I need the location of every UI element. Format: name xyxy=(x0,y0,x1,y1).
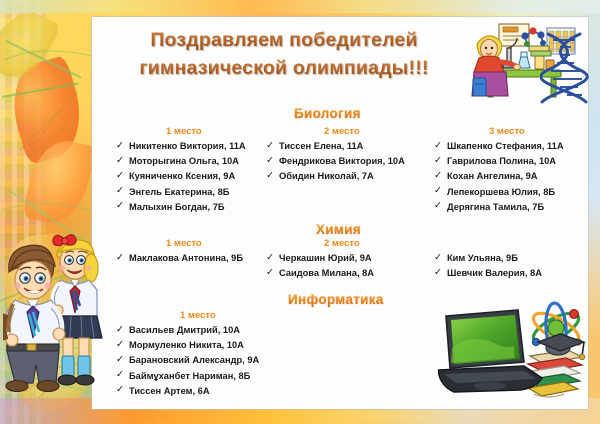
check-icon: ✓ xyxy=(434,252,442,265)
winner-name: Барановский Александр, 9А xyxy=(129,355,259,365)
list-item: ✓Обидин Николай, 7А xyxy=(266,170,405,183)
winner-name: Лепекоршева Юлия, 8Б xyxy=(447,187,555,197)
list-item: ✓Васильев Дмитрий, 10А xyxy=(116,324,259,337)
list-item: ✓Шевчик Валерия, 8А xyxy=(434,267,542,280)
list-item: ✓Барановский Александр, 9А xyxy=(116,354,259,367)
winner-list-biology-3: ✓Шкапенко Стефания, 11А ✓Гаврилова Полин… xyxy=(434,140,564,216)
check-icon: ✓ xyxy=(434,155,442,168)
place-label-chemistry-2: 2 место xyxy=(324,238,360,249)
winner-list-chemistry-3: ✓Ким Ульяна, 9Б ✓Шевчик Валерия, 8А xyxy=(434,252,542,282)
winner-name: Дерягина Тамила, 7Б xyxy=(447,202,544,212)
page-title: Поздравляем победителей гимназической ол… xyxy=(104,26,464,83)
dna-helix-illustration xyxy=(540,32,594,104)
list-item: ✓Тиссен Артем, 6А xyxy=(116,385,259,398)
list-item: ✓Мормуленко Никита, 10А xyxy=(116,339,259,352)
section-heading-informatics: Информатика xyxy=(288,292,384,307)
check-icon: ✓ xyxy=(116,170,124,183)
title-line-1: Поздравляем победителей xyxy=(104,26,464,54)
list-item: ✓Ким Ульяна, 9Б xyxy=(434,252,542,265)
winner-list-chemistry-2: ✓Черкашин Юрий, 9А ✓Саидова Милана, 8А xyxy=(266,252,374,282)
winner-name: Обидин Николай, 7А xyxy=(279,171,374,181)
winner-name: Тиссен Елена, 11А xyxy=(279,141,363,151)
list-item: ✓Гаврилова Полина, 10А xyxy=(434,155,564,168)
winner-name: Шкапенко Стефания, 11А xyxy=(447,141,564,151)
check-icon: ✓ xyxy=(116,369,124,382)
list-item: ✓Тиссен Елена, 11А xyxy=(266,140,405,153)
boy-figure xyxy=(3,245,65,391)
winner-name: Мормуленко Никита, 10А xyxy=(129,340,244,350)
top-gradient-band xyxy=(0,0,600,13)
winner-name: Гаврилова Полина, 10А xyxy=(447,156,556,166)
check-icon: ✓ xyxy=(116,354,124,367)
section-heading-biology: Биология xyxy=(294,106,361,121)
place-label-chemistry-1: 1 место xyxy=(166,238,202,249)
check-icon: ✓ xyxy=(266,267,274,280)
place-label-biology-2: 2 место xyxy=(324,126,360,137)
winner-name: Черкашин Юрий, 9А xyxy=(279,253,372,263)
list-item: ✓Энгель Екатерина, 8Б xyxy=(116,186,246,199)
winner-name: Баймұханбет Нариман, 8Б xyxy=(129,371,250,381)
check-icon: ✓ xyxy=(116,155,124,168)
list-item: ✓Фендрикова Виктория, 10А xyxy=(266,155,405,168)
check-icon: ✓ xyxy=(434,200,442,213)
check-icon: ✓ xyxy=(116,339,124,352)
winner-list-chemistry-1: ✓Маклакова Антонина, 9Б xyxy=(116,252,243,267)
poster-canvas: Поздравляем победителей гимназической ол… xyxy=(0,0,600,424)
check-icon: ✓ xyxy=(266,252,274,265)
list-item: ✓Маклакова Антонина, 9Б xyxy=(116,252,243,265)
section-heading-chemistry: Химия xyxy=(316,222,361,237)
winner-name: Никитенко Виктория, 11А xyxy=(129,141,246,151)
check-icon: ✓ xyxy=(266,140,274,153)
laptop-books-atom-illustration xyxy=(438,300,590,404)
winner-name: Куяниченко Ксения, 9А xyxy=(129,171,235,181)
winner-name: Саидова Милана, 8А xyxy=(279,268,374,278)
list-item: ✓Дерягина Тамила, 7Б xyxy=(434,201,564,214)
list-item: ✓Малыхин Богдан, 7Б xyxy=(116,201,246,214)
check-icon: ✓ xyxy=(116,324,124,337)
schoolchildren-illustration xyxy=(3,228,107,408)
check-icon: ✓ xyxy=(434,185,442,198)
check-icon: ✓ xyxy=(434,140,442,153)
winner-name: Васильев Дмитрий, 10А xyxy=(129,325,240,335)
check-icon: ✓ xyxy=(434,267,442,280)
check-icon: ✓ xyxy=(116,200,124,213)
list-item: ✓Никитенко Виктория, 11А xyxy=(116,140,246,153)
check-icon: ✓ xyxy=(116,140,124,153)
winner-name: Кохан Ангелина, 9А xyxy=(447,171,538,181)
list-item: ✓Моторыгина Ольга, 10А xyxy=(116,155,246,168)
check-icon: ✓ xyxy=(116,384,124,397)
check-icon: ✓ xyxy=(116,252,124,265)
winner-list-biology-2: ✓Тиссен Елена, 11А ✓Фендрикова Виктория,… xyxy=(266,140,405,186)
list-item: ✓Кохан Ангелина, 9А xyxy=(434,170,564,183)
check-icon: ✓ xyxy=(266,170,274,183)
place-label-informatics-1: 1 место xyxy=(180,310,216,321)
title-line-2: гимназической олимпиады!!! xyxy=(104,54,464,82)
winner-list-informatics-1: ✓Васильев Дмитрий, 10А ✓Мормуленко Никит… xyxy=(116,324,259,400)
winner-name: Маклакова Антонина, 9Б xyxy=(129,253,243,263)
list-item: ✓Баймұханбет Нариман, 8Б xyxy=(116,370,259,383)
check-icon: ✓ xyxy=(434,170,442,183)
check-icon: ✓ xyxy=(266,155,274,168)
winner-name: Энгель Екатерина, 8Б xyxy=(129,187,229,197)
list-item: ✓Лепекоршева Юлия, 8Б xyxy=(434,186,564,199)
winner-name: Малыхин Богдан, 7Б xyxy=(129,202,225,212)
winner-name: Ким Ульяна, 9Б xyxy=(447,253,518,263)
winner-name: Шевчик Валерия, 8А xyxy=(447,268,542,278)
list-item: ✓Саидова Милана, 8А xyxy=(266,267,374,280)
list-item: ✓Шкапенко Стефания, 11А xyxy=(434,140,564,153)
place-label-biology-3: 3 место xyxy=(489,126,525,137)
winner-name: Тиссен Артем, 6А xyxy=(129,386,210,396)
winner-list-biology-1: ✓Никитенко Виктория, 11А ✓Моторыгина Оль… xyxy=(116,140,246,216)
winner-name: Моторыгина Ольга, 10А xyxy=(129,156,239,166)
list-item: ✓Куяниченко Ксения, 9А xyxy=(116,170,246,183)
check-icon: ✓ xyxy=(116,185,124,198)
place-label-biology-1: 1 место xyxy=(166,126,202,137)
laptop-icon xyxy=(438,310,542,392)
list-item: ✓Черкашин Юрий, 9А xyxy=(266,252,374,265)
winner-name: Фендрикова Виктория, 10А xyxy=(279,156,405,166)
